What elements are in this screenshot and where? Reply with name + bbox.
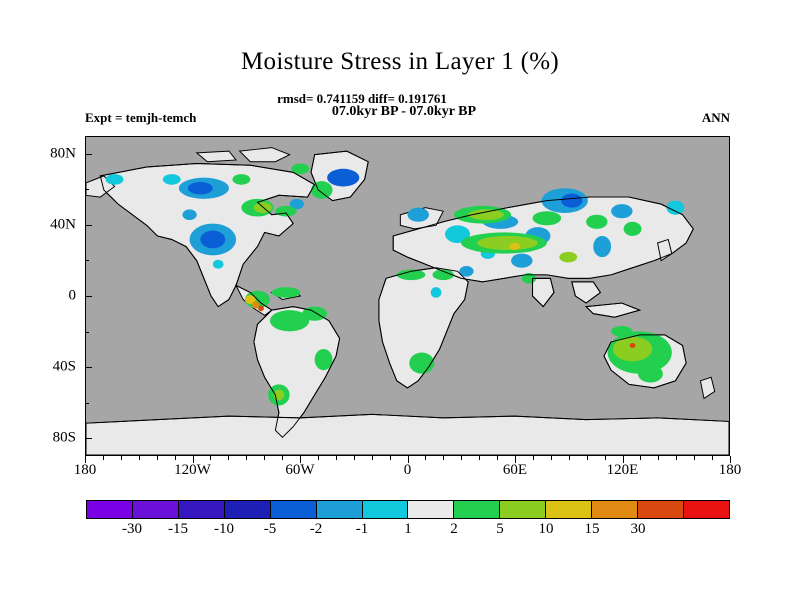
- anomaly-patch: [638, 365, 663, 383]
- anomaly-patch: [213, 260, 224, 269]
- colorbar-tick-label: -15: [168, 521, 188, 538]
- x-axis-minor-tick: [461, 456, 462, 460]
- anomaly-patch: [431, 287, 442, 298]
- colorbar-band[interactable]: [592, 501, 638, 518]
- map-plot-area: [85, 136, 730, 456]
- colorbar-band[interactable]: [317, 501, 363, 518]
- anomaly-patch: [252, 301, 259, 308]
- x-axis-minor-tick: [640, 456, 641, 460]
- x-axis-label: 120E: [607, 462, 639, 479]
- colorbar-tick-label: -2: [310, 521, 323, 538]
- colorbar-band[interactable]: [546, 501, 592, 518]
- x-axis-label: 0: [404, 462, 412, 479]
- x-axis-minor-tick: [121, 456, 122, 460]
- anomaly-patch: [275, 206, 296, 217]
- anomaly-patch: [509, 243, 520, 250]
- y-axis-label: 80N: [50, 145, 76, 162]
- colorbar-tick-label: 5: [496, 521, 504, 538]
- anomaly-patch: [188, 182, 213, 194]
- antarctica: [86, 414, 729, 455]
- x-axis-minor-tick: [443, 456, 444, 460]
- x-axis-minor-tick: [282, 456, 283, 460]
- x-axis-minor-tick: [175, 456, 176, 460]
- anomaly-patch: [408, 208, 429, 222]
- anomaly-patch: [258, 306, 264, 312]
- x-axis-minor-tick: [712, 456, 713, 460]
- anomaly-patch: [254, 202, 272, 213]
- y-axis-label: 0: [69, 288, 77, 305]
- colorbar-band[interactable]: [684, 501, 729, 518]
- y-axis-minor-tick: [85, 189, 89, 190]
- y-axis-minor-tick: [85, 260, 89, 261]
- x-axis-minor-tick: [551, 456, 552, 460]
- x-axis-minor-tick: [372, 456, 373, 460]
- y-axis-minor-tick: [85, 332, 89, 333]
- colorbar-band[interactable]: [133, 501, 179, 518]
- y-axis-label: 80S: [53, 430, 76, 447]
- x-axis-minor-tick: [157, 456, 158, 460]
- colorbar-tick-label: -10: [214, 521, 234, 538]
- colorbar-band[interactable]: [500, 501, 546, 518]
- x-axis-minor-tick: [139, 456, 140, 460]
- x-axis-label: 180: [719, 462, 742, 479]
- world-map: [86, 137, 729, 455]
- x-axis-minor-tick: [336, 456, 337, 460]
- x-axis-minor-tick: [694, 456, 695, 460]
- x-axis-minor-tick: [605, 456, 606, 460]
- y-axis-label: 40S: [53, 359, 76, 376]
- x-axis-minor-tick: [658, 456, 659, 460]
- y-axis-label: 40N: [50, 216, 76, 233]
- x-axis-minor-tick: [533, 456, 534, 460]
- x-axis-minor-tick: [676, 456, 677, 460]
- colorbar-tick-label: 15: [585, 521, 600, 538]
- anomaly-patch: [272, 287, 301, 298]
- colorbar[interactable]: [86, 500, 730, 519]
- x-axis-minor-tick: [228, 456, 229, 460]
- x-axis-minor-tick: [246, 456, 247, 460]
- x-axis-label: 60E: [503, 462, 527, 479]
- colorbar-band[interactable]: [179, 501, 225, 518]
- y-axis-tick: [85, 438, 92, 439]
- colorbar-tick-label: -30: [122, 521, 142, 538]
- colorbar-tick-label: -5: [264, 521, 277, 538]
- anomaly-patch: [511, 254, 532, 268]
- anomaly-patch: [327, 169, 359, 187]
- colorbar-band[interactable]: [363, 501, 409, 518]
- y-axis-minor-tick: [85, 403, 89, 404]
- y-axis-tick: [85, 296, 92, 297]
- y-axis-tick: [85, 225, 92, 226]
- anomaly-patch: [593, 236, 611, 257]
- colorbar-tick-label: 30: [631, 521, 646, 538]
- anomaly-patch: [200, 231, 225, 249]
- colorbar-band[interactable]: [638, 501, 684, 518]
- experiment-label: Expt = temjh-temch: [85, 110, 196, 126]
- anomaly-patch: [611, 204, 632, 218]
- anomaly-patch: [586, 215, 607, 229]
- colorbar-tick-label: 1: [404, 521, 412, 538]
- anomaly-patch: [182, 209, 196, 220]
- anomaly-patch: [611, 326, 632, 337]
- anomaly-patch: [561, 194, 582, 208]
- y-axis-tick: [85, 154, 92, 155]
- x-axis-label: 120W: [174, 462, 211, 479]
- x-axis-minor-tick: [425, 456, 426, 460]
- x-axis-label: 180: [74, 462, 97, 479]
- x-axis-minor-tick: [103, 456, 104, 460]
- anomaly-patch: [232, 174, 250, 185]
- colorbar-band[interactable]: [408, 501, 454, 518]
- x-axis-minor-tick: [210, 456, 211, 460]
- anomaly-patch: [106, 174, 124, 185]
- x-axis-minor-tick: [318, 456, 319, 460]
- anomaly-patch: [624, 222, 642, 236]
- x-axis-label: 60W: [285, 462, 314, 479]
- anomaly-patch: [533, 211, 562, 225]
- x-axis-minor-tick: [264, 456, 265, 460]
- colorbar-band[interactable]: [454, 501, 500, 518]
- x-axis-minor-tick: [479, 456, 480, 460]
- x-axis-minor-tick: [497, 456, 498, 460]
- page-title: Moisture Stress in Layer 1 (%): [0, 48, 800, 76]
- season-label: ANN: [702, 110, 730, 126]
- x-axis-minor-tick: [587, 456, 588, 460]
- anomaly-patch: [630, 343, 636, 348]
- colorbar-band[interactable]: [87, 501, 133, 518]
- anomaly-patch: [311, 181, 332, 199]
- anomaly-patch: [477, 236, 538, 250]
- colorbar-tick-label: 2: [450, 521, 458, 538]
- x-axis-minor-tick: [569, 456, 570, 460]
- x-axis-minor-tick: [390, 456, 391, 460]
- y-axis-tick: [85, 367, 92, 368]
- colorbar-tick-label: -1: [356, 521, 369, 538]
- anomaly-patch: [559, 252, 577, 263]
- x-axis-minor-tick: [354, 456, 355, 460]
- anomaly-patch: [163, 174, 181, 185]
- anomaly-patch: [315, 349, 333, 370]
- colorbar-tick-label: 10: [539, 521, 554, 538]
- colorbar-band[interactable]: [225, 501, 271, 518]
- colorbar-band[interactable]: [271, 501, 317, 518]
